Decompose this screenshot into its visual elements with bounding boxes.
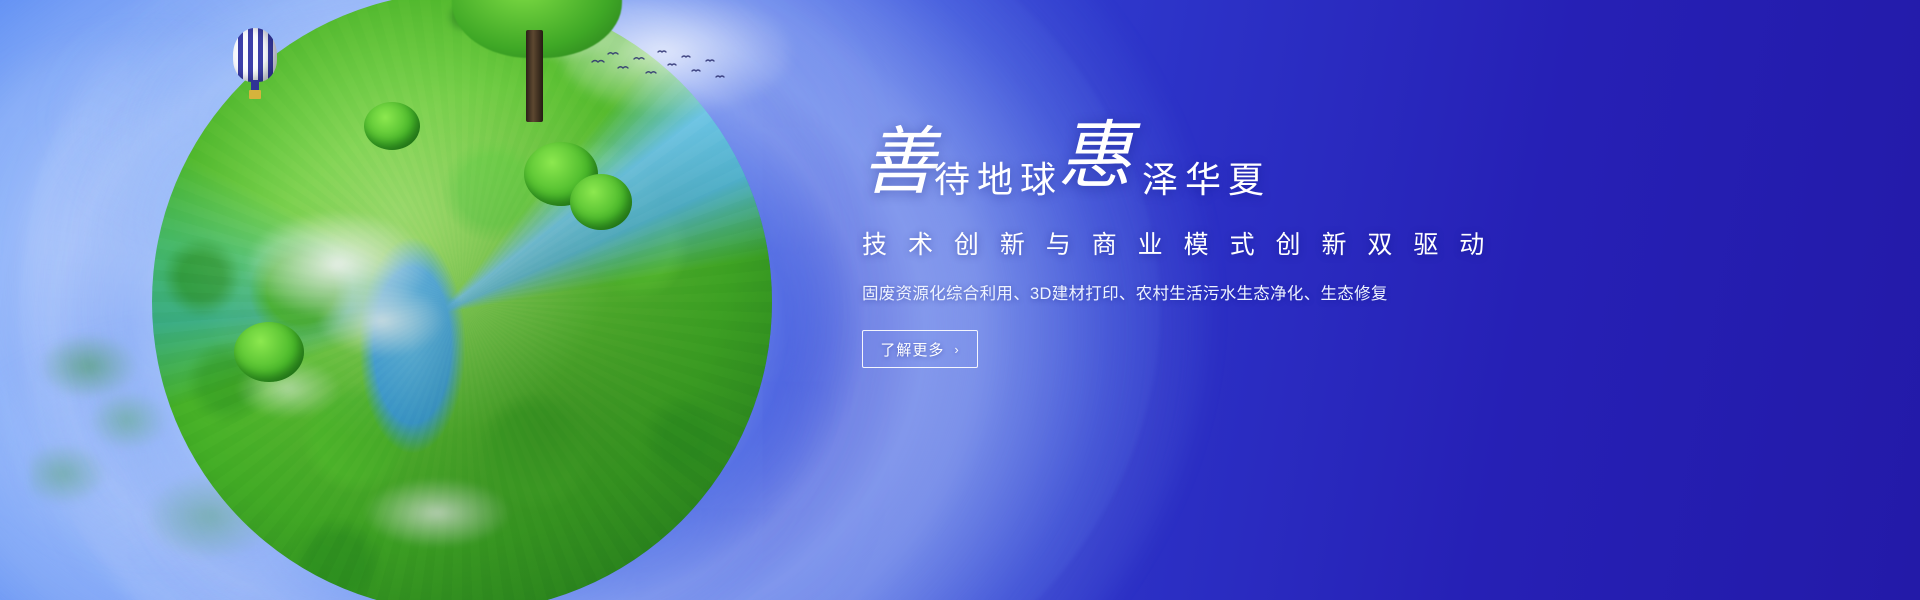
headline-char-1: 善 [862, 126, 936, 200]
headline-text-1: 待地球 [934, 162, 1063, 198]
tree-cluster-mid [364, 102, 420, 154]
balloon-neck [251, 80, 259, 90]
hot-air-balloon-icon [233, 28, 277, 104]
birds-icon [588, 48, 728, 90]
balloon-basket [249, 90, 261, 99]
tree-cluster-right-2 [570, 174, 632, 236]
headline-char-2: 惠 [1058, 120, 1132, 194]
chevron-right-icon: › [954, 343, 959, 356]
headline-text-2: 泽华夏 [1142, 162, 1271, 198]
hero-banner: 善 待地球 惠 泽华夏 技 术 创 新 与 商 业 模 式 创 新 双 驱 动 … [0, 0, 1920, 600]
banner-copy: 善 待地球 惠 泽华夏 技 术 创 新 与 商 业 模 式 创 新 双 驱 动 … [862, 120, 1482, 368]
headline: 善 待地球 惠 泽华夏 [862, 120, 1482, 224]
description-text: 固废资源化综合利用、3D建材打印、农村生活污水生态净化、生态修复 [862, 283, 1482, 306]
subheadline: 技 术 创 新 与 商 业 模 式 创 新 双 驱 动 [862, 230, 1482, 261]
learn-more-button[interactable]: 了解更多 › [862, 330, 978, 368]
balloon-envelope [233, 28, 277, 82]
learn-more-label: 了解更多 [880, 339, 944, 360]
tree-cluster-left [234, 322, 304, 388]
tree-trunk [526, 30, 543, 122]
